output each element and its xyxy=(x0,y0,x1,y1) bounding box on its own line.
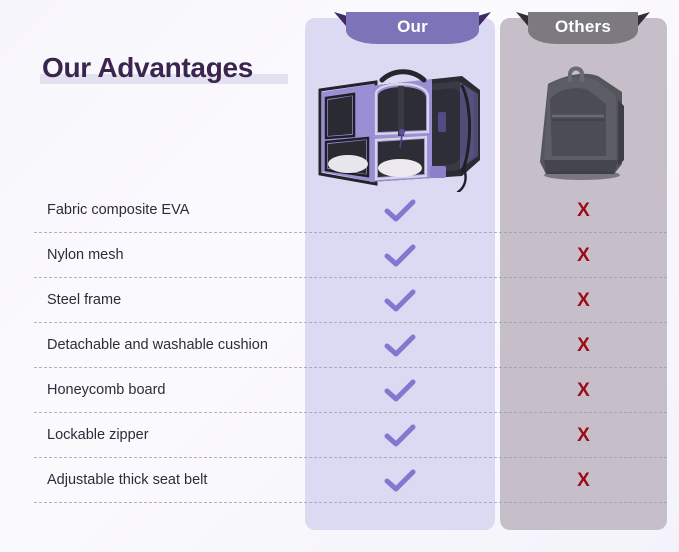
feature-label: Fabric composite EVA xyxy=(47,188,189,233)
table-row: Nylon meshX xyxy=(0,233,679,278)
row-separator xyxy=(34,502,667,503)
cell-ours xyxy=(305,458,495,503)
feature-rows: Fabric composite EVAXNylon meshXSteel fr… xyxy=(0,0,679,552)
cell-others: X xyxy=(500,233,667,278)
cell-ours xyxy=(305,413,495,458)
table-row: Lockable zipperX xyxy=(0,413,679,458)
feature-label: Steel frame xyxy=(47,278,121,323)
check-icon xyxy=(383,423,417,449)
check-icon xyxy=(383,198,417,224)
feature-label: Honeycomb board xyxy=(47,368,166,413)
table-row: Detachable and washable cushionX xyxy=(0,323,679,368)
cross-icon: X xyxy=(577,426,590,445)
feature-label: Detachable and washable cushion xyxy=(47,323,268,368)
table-row: Adjustable thick seat beltX xyxy=(0,458,679,503)
feature-label: Nylon mesh xyxy=(47,233,124,278)
check-icon xyxy=(383,243,417,269)
cross-icon: X xyxy=(577,291,590,310)
check-icon xyxy=(383,288,417,314)
cell-ours xyxy=(305,233,495,278)
cell-others: X xyxy=(500,413,667,458)
comparison-table: Our Advantages xyxy=(0,0,679,552)
cross-icon: X xyxy=(577,246,590,265)
cross-icon: X xyxy=(577,201,590,220)
cell-ours xyxy=(305,278,495,323)
check-icon xyxy=(383,333,417,359)
feature-label: Lockable zipper xyxy=(47,413,149,458)
cell-ours xyxy=(305,368,495,413)
table-row: Fabric composite EVAX xyxy=(0,188,679,233)
cell-ours xyxy=(305,323,495,368)
cell-others: X xyxy=(500,278,667,323)
cell-others: X xyxy=(500,323,667,368)
cell-others: X xyxy=(500,458,667,503)
cross-icon: X xyxy=(577,336,590,355)
cell-others: X xyxy=(500,188,667,233)
table-row: Steel frameX xyxy=(0,278,679,323)
table-row: Honeycomb boardX xyxy=(0,368,679,413)
feature-label: Adjustable thick seat belt xyxy=(47,458,207,503)
cross-icon: X xyxy=(577,471,590,490)
check-icon xyxy=(383,468,417,494)
check-icon xyxy=(383,378,417,404)
cell-others: X xyxy=(500,368,667,413)
cell-ours xyxy=(305,188,495,233)
cross-icon: X xyxy=(577,381,590,400)
